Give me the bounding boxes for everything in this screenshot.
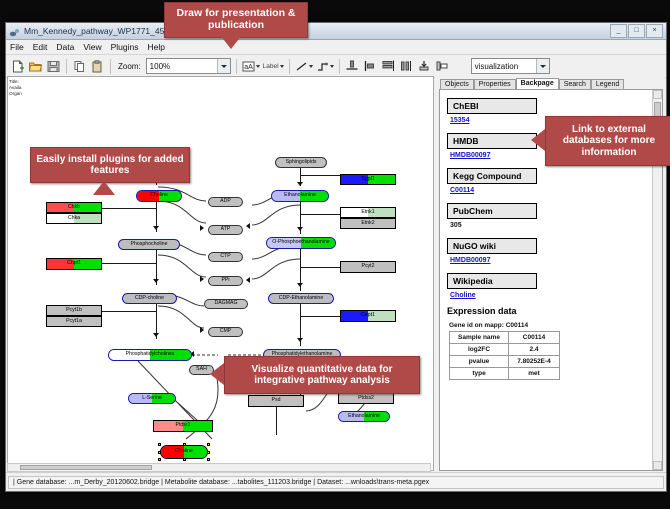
text-tool-icon[interactable]: aA [242, 60, 260, 73]
panel-tabs: Objects Properties Backpage Search Legen… [435, 76, 665, 89]
visualization-value: visualization [475, 62, 519, 71]
gene-node[interactable]: Ptdss2 [338, 393, 394, 404]
label-tool-label: Label [263, 63, 279, 70]
expression-table: Sample name C00114 log2FC 2.4 pvalue 7.8… [449, 331, 560, 380]
table-row: type met [450, 368, 560, 380]
chevron-down-icon[interactable] [536, 59, 549, 73]
gene-label: Chka [68, 216, 80, 221]
maximize-button[interactable]: □ [628, 24, 645, 38]
table-row: Sample name C00114 [450, 332, 560, 344]
menu-item-help[interactable]: Help [148, 42, 165, 52]
callout-draw: Draw for presentation & publication [164, 2, 308, 38]
toolbar-separator [236, 59, 237, 74]
edge-curve [244, 243, 302, 289]
zoom-label: Zoom: [118, 62, 141, 71]
callout-draw-arrow [220, 35, 242, 49]
expression-data-heading: Expression data [447, 306, 662, 316]
cell-key: Sample name [450, 332, 509, 344]
gene-label: Psd [272, 398, 281, 403]
metabolite-label: Ethanolamine [348, 414, 380, 419]
gene-node[interactable]: Etnk1 [340, 207, 396, 218]
cell-key: log2FC [450, 344, 509, 356]
metabolite-label: PPi [221, 278, 229, 283]
arrowhead [200, 276, 204, 282]
metabolite-node[interactable]: DAGMAG [204, 299, 248, 309]
callout-visualize-arrow [210, 363, 224, 385]
menu-item-data[interactable]: Data [56, 42, 74, 52]
gene-node[interactable]: Cept1 [340, 310, 396, 322]
svg-text:aA: aA [244, 64, 253, 71]
canvas-hscrollbar[interactable] [7, 463, 431, 472]
selection-handle[interactable] [207, 451, 210, 454]
selection-handle[interactable] [158, 458, 161, 461]
link-kegg[interactable]: C00114 [450, 187, 662, 194]
gene-node[interactable]: Psd [248, 395, 304, 407]
arrowhead [200, 327, 204, 333]
metabolite-label: DAGMAG [214, 301, 237, 306]
application-window: Mm_Kennedy_pathway_WP1771_45176.gpml _ □… [5, 22, 667, 492]
arrowhead [297, 338, 303, 342]
metabolite-label: CDP-choline [135, 296, 164, 301]
cell-value: 2.4 [509, 344, 560, 356]
gene-label: Etnk1 [361, 210, 374, 215]
metabolite-label: ADP [220, 199, 231, 204]
menu-item-plugins[interactable]: Plugins [111, 42, 139, 52]
cell-value: C00114 [509, 332, 560, 344]
gene-node[interactable]: Chkb [46, 202, 102, 213]
save-icon[interactable] [46, 59, 61, 74]
connector-tool-icon[interactable] [316, 60, 334, 73]
toolbar-separator [289, 59, 290, 74]
arrowhead [246, 277, 250, 283]
metabolite-node[interactable]: CTP [208, 252, 243, 262]
gene-node[interactable]: Chka [46, 213, 102, 224]
toolbar-separator [339, 59, 340, 74]
metabolite-node[interactable]: ATP [208, 225, 243, 235]
gene-label: Chkb [68, 205, 80, 210]
gene-label: Pcyt2 [362, 264, 375, 269]
gene-node[interactable]: Pcyt1a [46, 316, 102, 327]
link-wikipedia[interactable]: Choline [450, 292, 662, 299]
metabolite-label: CDP-Ethanolamine [279, 296, 323, 301]
table-row: log2FC 2.4 [450, 344, 560, 356]
metabolite-node[interactable]: PPi [208, 276, 243, 286]
callout-links-arrow [531, 129, 545, 151]
gene-label: Ptdss2 [358, 396, 374, 401]
metabolite-node[interactable]: Phosphatidylcholines [108, 349, 192, 361]
gene-label: Pcyt1a [66, 319, 82, 324]
tab-properties[interactable]: Properties [474, 79, 516, 89]
metabolite-node[interactable]: O-Phosphoethanolamine [266, 237, 336, 249]
gene-label: Etnk2 [361, 221, 374, 226]
gene-label: Ptdsr1 [176, 423, 191, 428]
paste-icon[interactable] [90, 59, 105, 74]
screenshot-root: Mm_Kennedy_pathway_WP1771_45176.gpml _ □… [0, 0, 670, 509]
tab-objects[interactable]: Objects [440, 79, 474, 89]
order-icon[interactable] [435, 59, 450, 74]
selection-handle[interactable] [183, 458, 186, 461]
section-nugo: NuGO wiki HMDB00097 [447, 236, 662, 264]
gene-node[interactable]: Chpt1 [46, 258, 102, 270]
cell-key: pvalue [450, 356, 509, 368]
metabolite-node[interactable]: Ethanolamine [271, 190, 329, 202]
app-icon [9, 26, 20, 37]
value-pubchem: 305 [450, 222, 662, 229]
edge [98, 208, 156, 209]
gene-label: Chpt1 [67, 261, 81, 266]
label-tool-icon[interactable]: Label [263, 63, 284, 70]
edge [98, 263, 156, 264]
scroll-down-arrow[interactable] [653, 461, 662, 470]
edge [300, 214, 340, 215]
close-button[interactable]: × [646, 24, 663, 38]
gene-id-label: Gene id on mapp: C00114 [449, 322, 662, 329]
metabolite-node[interactable]: Sphingolipids [275, 157, 327, 168]
pathway-canvas[interactable]: Title: Availa Organ [7, 76, 434, 471]
scroll-thumb[interactable] [20, 465, 152, 470]
metabolite-node[interactable]: Choline [136, 190, 182, 202]
metabolite-label: Phosphatidylcholines [126, 352, 175, 357]
metabolite-node[interactable]: Choline [160, 445, 208, 459]
link-nugo[interactable]: HMDB00097 [450, 257, 662, 264]
metabolite-label: Phosphocholine [131, 242, 168, 247]
tab-search[interactable]: Search [559, 79, 591, 89]
arrowhead [297, 182, 303, 186]
menu-bar: File Edit Data View Plugins Help [6, 40, 666, 55]
status-bar: | Gene database: ...m_Derby_20120602.bri… [6, 472, 666, 491]
gene-node[interactable]: Ptdsr1 [153, 420, 213, 432]
metabolite-node[interactable]: Phosphocholine [118, 239, 180, 250]
metabolite-node[interactable]: CDP-choline [122, 293, 177, 304]
meta-organism: Organ [9, 91, 22, 97]
callout-links: Link to external databases for more info… [545, 116, 670, 166]
callout-plugins: Easily install plugins for added feature… [30, 147, 190, 183]
open-folder-icon[interactable] [28, 59, 43, 74]
edge [98, 311, 156, 312]
metabolite-node[interactable]: Ethanolamine [338, 411, 390, 422]
table-row: pvalue 7.80252E-4 [450, 356, 560, 368]
metabolite-label: Sphingolipids [286, 160, 317, 165]
metabolite-label: Choline [175, 449, 193, 454]
toolbar-separator [110, 59, 111, 74]
metabolite-node[interactable]: L-Serine [128, 393, 176, 404]
section-header-pubchem: PubChem [447, 203, 537, 219]
selection-handle[interactable] [183, 443, 186, 446]
edge [300, 267, 340, 268]
copy-icon[interactable] [72, 59, 87, 74]
cell-key: type [450, 368, 509, 380]
distribute-horizontal-icon[interactable] [399, 59, 414, 74]
metabolite-label: CMP [220, 329, 232, 334]
metabolite-node[interactable]: CDP-Ethanolamine [268, 293, 334, 304]
metabolite-label: SAH [196, 367, 207, 372]
metabolite-label: L-Serine [142, 396, 162, 401]
section-header-hmdb: HMDB [447, 133, 537, 149]
metabolite-label: O-Phosphoethanolamine [272, 240, 329, 245]
edge [300, 316, 340, 317]
title-bar: Mm_Kennedy_pathway_WP1771_45176.gpml _ □… [6, 23, 666, 40]
visualization-combo[interactable]: visualization [471, 58, 550, 74]
zoom-combo[interactable]: 100% [146, 58, 231, 74]
section-header-wikipedia: Wikipedia [447, 273, 537, 289]
edge [300, 175, 340, 176]
cell-value: met [509, 368, 560, 380]
gene-node[interactable]: Etnk2 [340, 218, 396, 229]
metabolite-label: Choline [150, 193, 168, 198]
menu-item-file[interactable]: File [10, 42, 24, 52]
section-kegg: Kegg Compound C00114 [447, 166, 662, 194]
new-file-icon[interactable] [10, 59, 25, 74]
section-wikipedia: Wikipedia Choline [447, 271, 662, 299]
align-top-icon[interactable] [345, 59, 360, 74]
section-header-kegg: Kegg Compound [447, 168, 537, 184]
tab-legend[interactable]: Legend [591, 79, 624, 89]
menu-item-edit[interactable]: Edit [33, 42, 48, 52]
section-pubchem: PubChem 305 [447, 201, 662, 229]
metabolite-node[interactable]: ADP [208, 197, 243, 207]
zoom-value: 100% [150, 62, 170, 71]
scroll-up-arrow[interactable] [653, 90, 662, 99]
gene-node[interactable]: Pcyt2 [340, 261, 396, 273]
selection-handle[interactable] [158, 451, 161, 454]
gene-node[interactable]: Sgpl1 [340, 174, 396, 185]
chevron-down-icon[interactable] [217, 59, 230, 73]
metabolite-label: ATP [221, 227, 231, 232]
metabolite-node[interactable]: CMP [208, 327, 243, 337]
minimize-button[interactable]: _ [610, 24, 627, 38]
toolbar-separator [66, 59, 67, 74]
stack-icon[interactable] [417, 59, 432, 74]
gene-label: Pcyt1b [66, 308, 82, 313]
arrowhead [246, 223, 250, 229]
section-header-chebi: ChEBI [447, 98, 537, 114]
metabolite-label: Ethanolamine [284, 193, 316, 198]
window-controls[interactable]: _ □ × [610, 24, 663, 38]
menu-item-view[interactable]: View [83, 42, 101, 52]
callout-visualize: Visualize quantitative data for integrat… [224, 356, 420, 394]
distribute-vertical-icon[interactable] [381, 59, 396, 74]
line-tool-icon[interactable] [295, 60, 313, 73]
gene-node[interactable]: Pcyt1b [46, 305, 102, 316]
selection-handle[interactable] [207, 443, 210, 446]
callout-plugins-arrow [93, 181, 115, 195]
cell-value: 7.80252E-4 [509, 356, 560, 368]
align-left-icon[interactable] [363, 59, 378, 74]
section-header-nugo: NuGO wiki [447, 238, 537, 254]
selection-handle[interactable] [158, 443, 161, 446]
pathway-metadata: Title: Availa Organ [9, 79, 22, 97]
selection-handle[interactable] [207, 458, 210, 461]
metabolite-label: CTP [220, 254, 230, 259]
gene-label: Sgpl1 [361, 177, 374, 182]
arrowhead [200, 225, 204, 231]
tab-backpage[interactable]: Backpage [516, 78, 559, 89]
status-text: | Gene database: ...m_Derby_20120602.bri… [8, 476, 664, 489]
gene-label: Cept1 [361, 313, 375, 318]
